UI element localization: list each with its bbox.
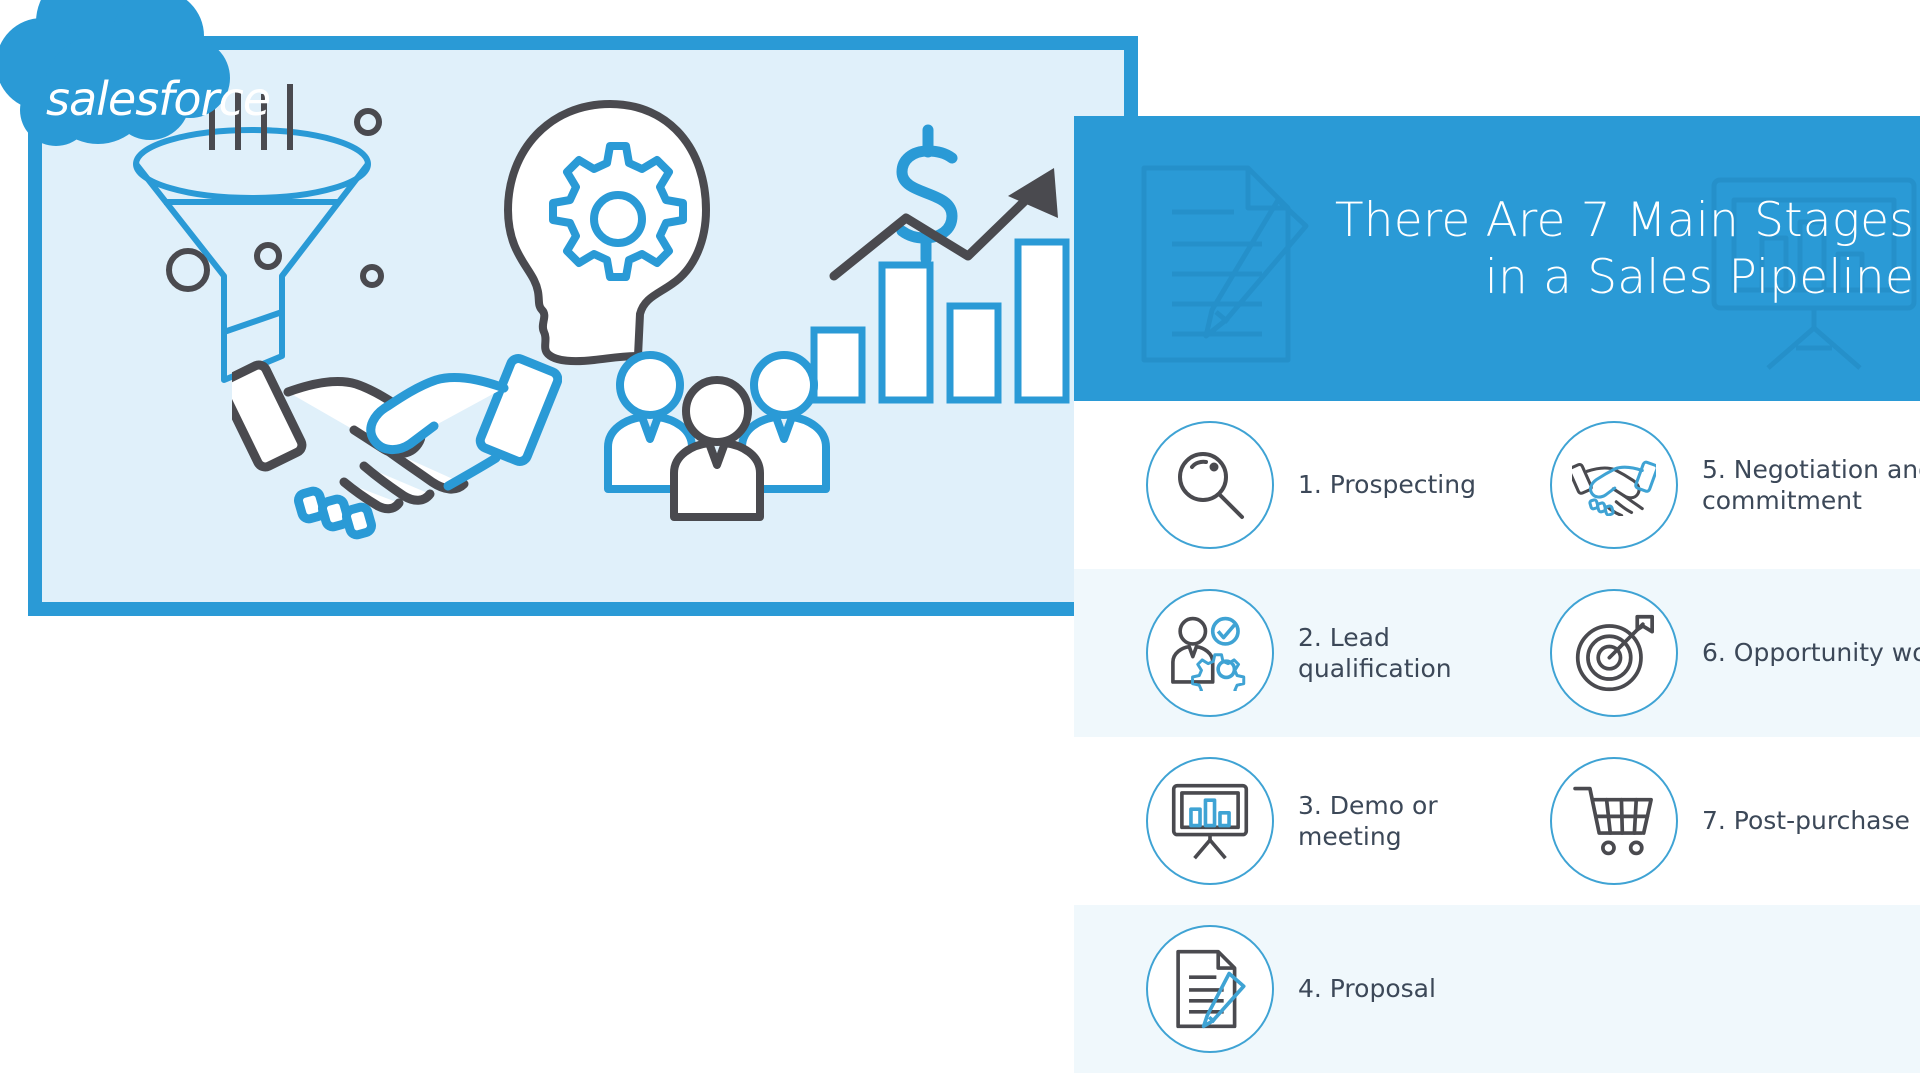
stage-item-opportunity-won[interactable]: 6. Opportunity won (1550, 589, 1920, 717)
stage-label: 6. Opportunity won (1702, 637, 1920, 668)
magnifier-icon (1146, 421, 1274, 549)
stage-item-demo-or-meeting[interactable]: 3. Demo or meeting (1146, 757, 1550, 885)
page-title-line-2: in a Sales Pipeline (1224, 249, 1914, 306)
handshake-icon (232, 340, 562, 540)
stage-label: 3. Demo or meeting (1298, 790, 1548, 853)
handshake-icon (1550, 421, 1678, 549)
stage-label: 7. Post-purchase (1702, 805, 1910, 836)
stage-label: 4. Proposal (1298, 973, 1436, 1004)
stage-item-lead-qualification[interactable]: 2. Lead qualification (1146, 589, 1550, 717)
pipeline-stages-card: There Are 7 Main Stages in a Sales Pipel… (1074, 116, 1920, 1080)
presentation-chart-icon (1146, 757, 1274, 885)
stage-label: 1. Prospecting (1298, 469, 1476, 500)
stage-item-prospecting[interactable]: 1. Prospecting (1146, 421, 1550, 549)
stage-item-post-purchase[interactable]: 7. Post-purchase (1550, 757, 1920, 885)
stage-row: 2. Lead qualification 6. Opportunity won (1074, 569, 1920, 737)
stages-list: 1. Prospecting (1074, 401, 1920, 1073)
stage-row: 3. Demo or meeting (1074, 737, 1920, 905)
infographic-page: salesforce (0, 0, 1920, 1080)
card-header: There Are 7 Main Stages in a Sales Pipel… (1074, 116, 1920, 401)
growth-chart-icon (802, 118, 1082, 408)
stage-item-negotiation[interactable]: 5. Negotiation and commitment (1550, 421, 1920, 549)
page-title: There Are 7 Main Stages in a Sales Pipel… (1224, 192, 1914, 307)
salesforce-wordmark: salesforce (46, 72, 270, 126)
stage-label: 5. Negotiation and commitment (1702, 454, 1920, 517)
page-title-line-1: There Are 7 Main Stages (1224, 192, 1914, 249)
stage-row: 1. Prospecting (1074, 401, 1920, 569)
person-check-gear-icon (1146, 589, 1274, 717)
stage-row: 4. Proposal (1074, 905, 1920, 1073)
stage-item-proposal[interactable]: 4. Proposal (1146, 925, 1550, 1053)
document-pencil-icon (1146, 925, 1274, 1053)
stage-label: 2. Lead qualification (1298, 622, 1548, 685)
team-people-icon (602, 345, 832, 525)
shopping-cart-icon (1550, 757, 1678, 885)
head-with-gear-icon (492, 98, 722, 378)
target-arrow-icon (1550, 589, 1678, 717)
